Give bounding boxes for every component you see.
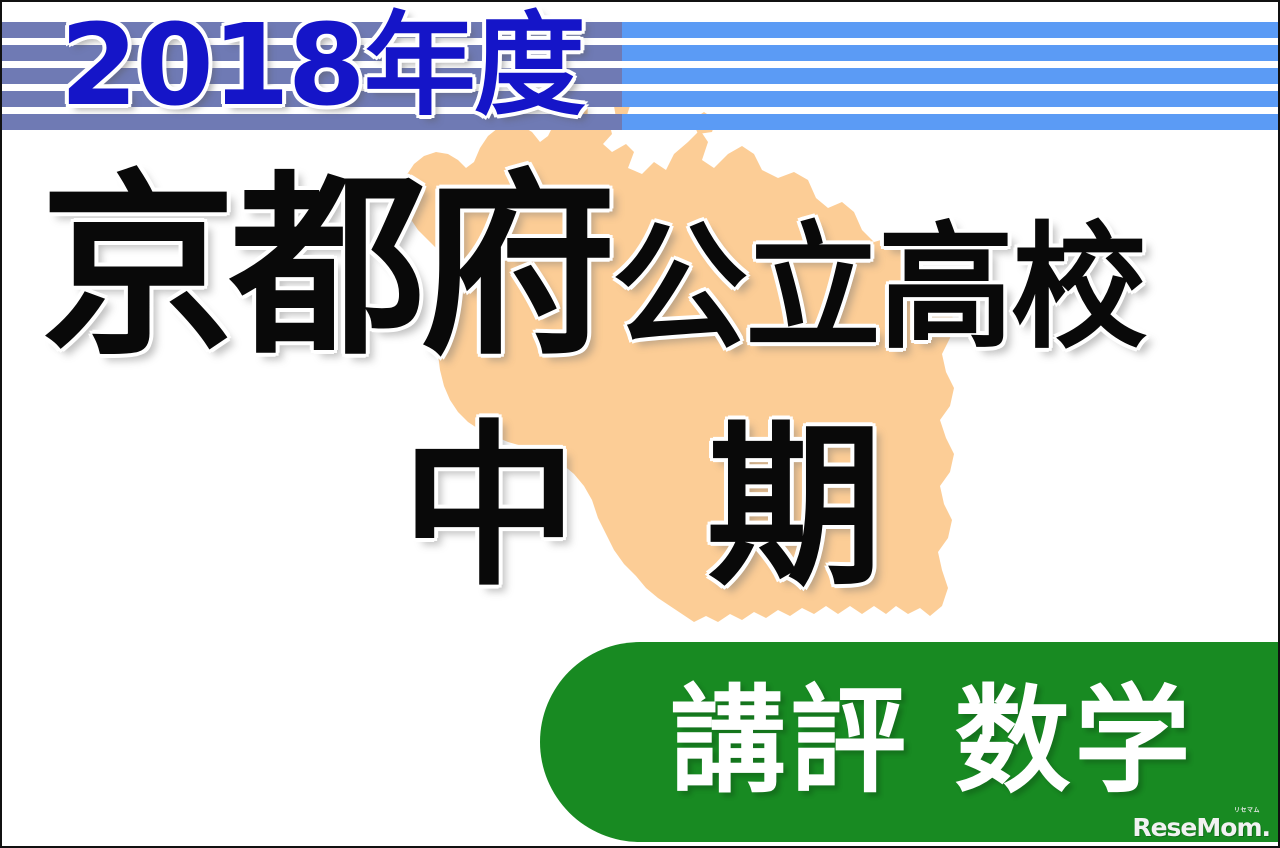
academic-year-label: 2018年度 xyxy=(60,10,584,122)
poster-canvas: 2018年度 京都府 公立高校 中 期 講評 数学 リセマム ReseMom. xyxy=(0,0,1280,848)
prefecture-name: 京都府 xyxy=(40,170,610,366)
school-type-label: 公立高校 xyxy=(612,221,1144,357)
watermark-brand-name: ReseMom. xyxy=(1132,815,1270,840)
exam-term-label: 中 期 xyxy=(2,420,1280,596)
subject-review-badge-label: 講評 数学 xyxy=(670,684,1194,800)
page-title: 京都府 公立高校 xyxy=(40,170,1144,366)
resemom-watermark: リセマム ReseMom. xyxy=(1132,808,1270,840)
